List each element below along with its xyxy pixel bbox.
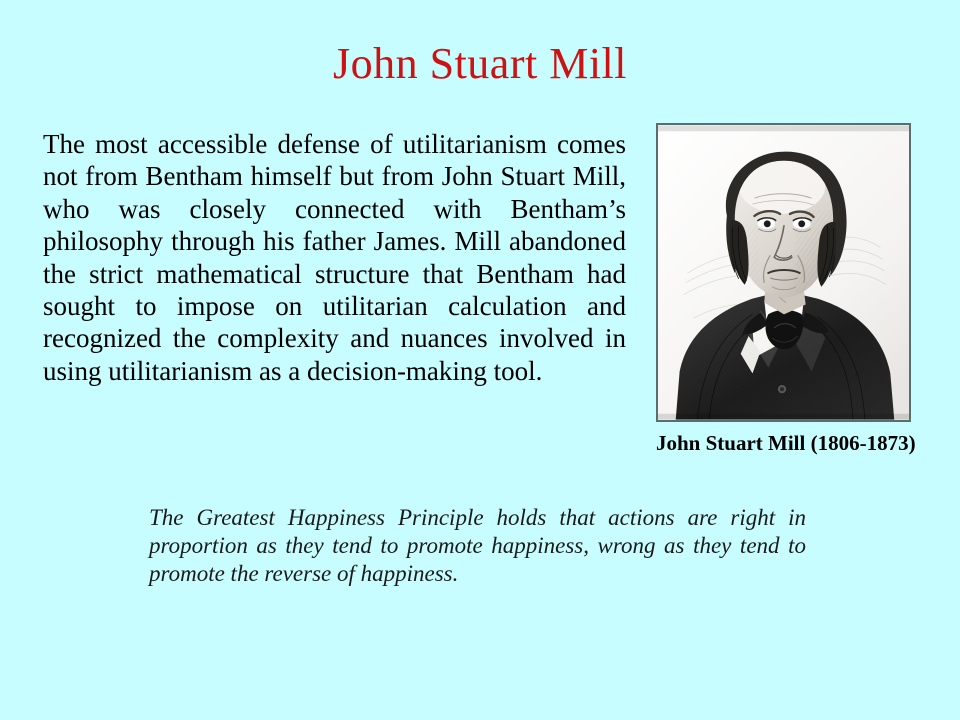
page-title: John Stuart Mill	[0, 38, 960, 90]
portrait-engraving-icon	[658, 125, 909, 420]
portrait-frame	[656, 123, 911, 422]
portrait-block: John Stuart Mill (1806-1873)	[656, 123, 913, 455]
body-paragraph: The most accessible defense of utilitari…	[43, 128, 626, 387]
quote-block: The Greatest Happiness Principle holds t…	[149, 504, 806, 588]
slide-canvas: John Stuart Mill The most accessible def…	[0, 0, 960, 720]
portrait-caption: John Stuart Mill (1806-1873)	[656, 431, 913, 455]
